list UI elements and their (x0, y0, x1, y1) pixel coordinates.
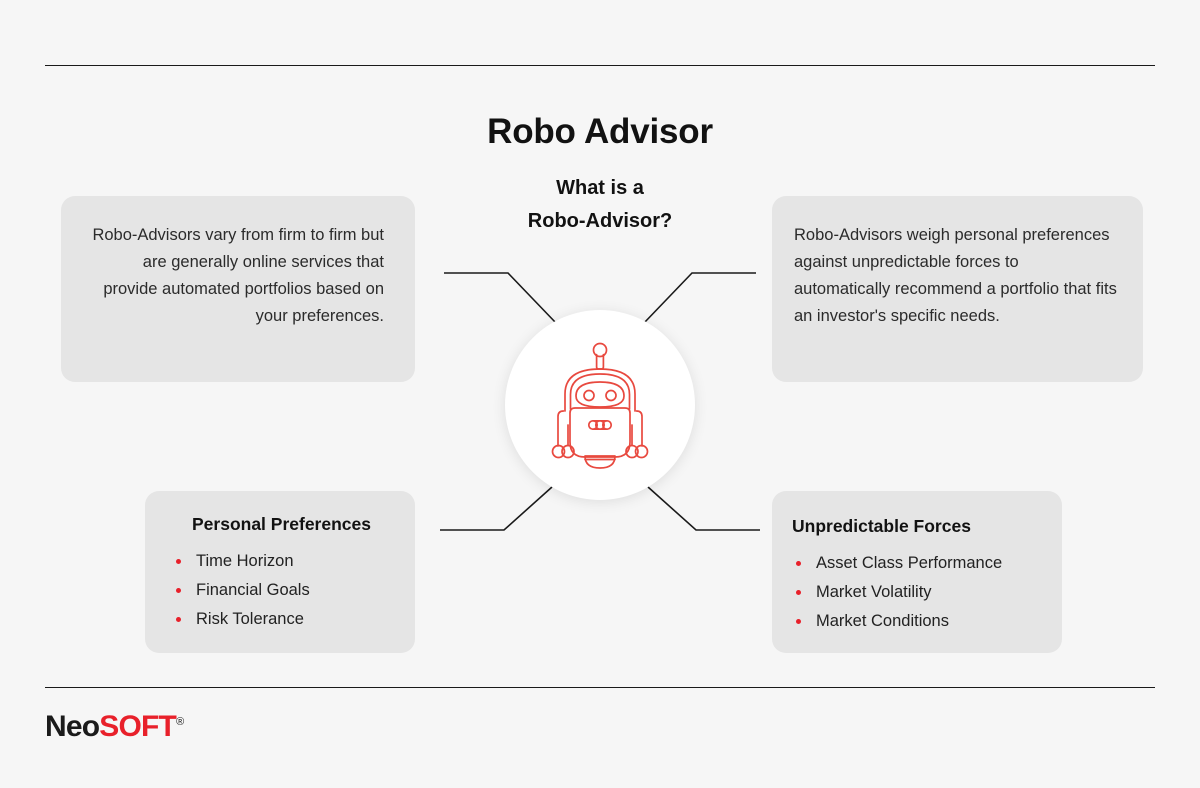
card-top-left-text: Robo-Advisors vary from firm to firm but… (87, 222, 384, 330)
page-subtitle-line-1: What is a (400, 172, 800, 205)
list-item: Market Conditions (792, 607, 1046, 636)
connector-top-left (444, 273, 556, 323)
bullet-dot-icon (176, 617, 181, 622)
page-subtitle: What is a Robo-Advisor? (400, 172, 800, 238)
list-item: Time Horizon (172, 547, 395, 576)
bullet-dot-icon (176, 559, 181, 564)
page-subtitle-line-2: Robo-Advisor? (400, 205, 800, 238)
personal-preferences-list: Time Horizon Financial Goals Risk Tolera… (172, 547, 395, 634)
connector-top-right (644, 273, 756, 323)
bullet-dot-icon (796, 619, 801, 624)
list-item: Risk Tolerance (172, 605, 395, 634)
connector-bottom-right (648, 487, 760, 530)
header-divider (45, 65, 1155, 66)
list-item: Asset Class Performance (792, 549, 1046, 578)
card-how-robo-advisors-work: Robo-Advisors weigh personal preferences… (772, 196, 1143, 382)
list-item-label: Time Horizon (196, 552, 294, 570)
logo-soft-text: SOFT (99, 710, 176, 743)
footer-divider (45, 687, 1155, 688)
center-medallion (505, 310, 695, 500)
list-item-label: Market Volatility (816, 583, 932, 601)
card-top-right-text: Robo-Advisors weigh personal preferences… (794, 222, 1117, 330)
connector-bottom-left (440, 487, 552, 530)
card-personal-preferences: Personal Preferences Time Horizon Financ… (145, 491, 415, 653)
robot-icon (541, 341, 659, 469)
list-item: Financial Goals (172, 576, 395, 605)
bullet-dot-icon (796, 590, 801, 595)
unpredictable-forces-list: Asset Class Performance Market Volatilit… (792, 549, 1046, 636)
registered-trademark-icon: ® (176, 716, 184, 728)
infographic-page: Robo Advisor What is a Robo-Advisor? Rob… (0, 0, 1200, 788)
card-unpredictable-forces-heading: Unpredictable Forces (792, 515, 1046, 537)
list-item-label: Financial Goals (196, 581, 310, 599)
list-item-label: Market Conditions (816, 612, 949, 630)
logo-neo-text: Neo (45, 710, 99, 743)
neosoft-logo: NeoSOFT® (45, 705, 184, 744)
bullet-dot-icon (176, 588, 181, 593)
list-item-label: Asset Class Performance (816, 554, 1002, 572)
bullet-dot-icon (796, 561, 801, 566)
list-item-label: Risk Tolerance (196, 610, 304, 628)
card-what-robo-advisors-are: Robo-Advisors vary from firm to firm but… (61, 196, 415, 382)
page-title: Robo Advisor (0, 112, 1200, 152)
card-unpredictable-forces: Unpredictable Forces Asset Class Perform… (772, 491, 1062, 653)
card-personal-preferences-heading: Personal Preferences (172, 513, 395, 535)
list-item: Market Volatility (792, 578, 1046, 607)
